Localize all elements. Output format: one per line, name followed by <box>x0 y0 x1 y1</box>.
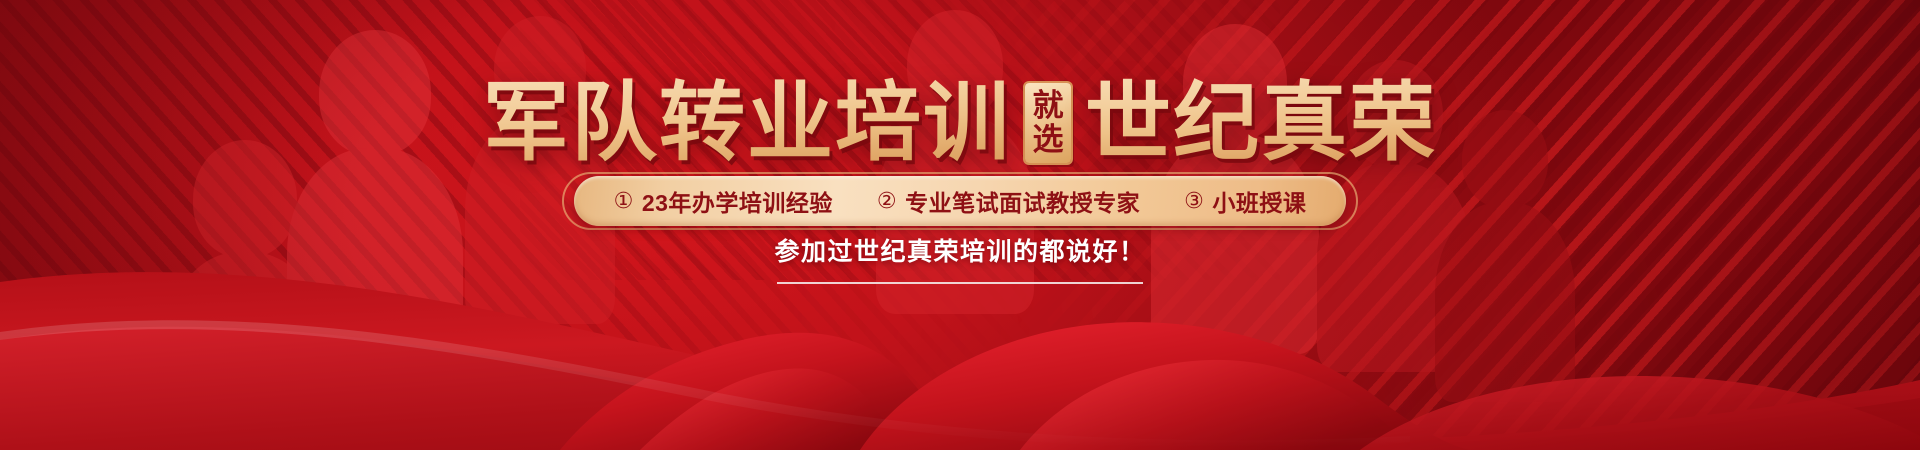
headline-right-text: 世纪真荣 <box>1085 74 1437 172</box>
feature-item-2: ② 专业笔试面试教授专家 <box>877 184 1140 218</box>
feature-label-3: 小班授课 <box>1212 184 1306 218</box>
feature-number-1: ① <box>614 188 634 214</box>
feature-label-1: 23年办学培训经验 <box>642 184 833 218</box>
headline: 军队转业培训 就 选 世纪真荣 <box>0 74 1920 172</box>
feature-number-3: ③ <box>1184 188 1204 214</box>
feature-item-1: ① 23年办学培训经验 <box>614 184 833 218</box>
feature-label-2: 专业笔试面试教授专家 <box>905 184 1140 218</box>
feature-pill-wrap: ① 23年办学培训经验 ② 专业笔试面试教授专家 ③ 小班授课 <box>0 176 1920 226</box>
tagline-wrap: 参加过世纪真荣培训的都说好！ <box>0 232 1920 284</box>
feature-pill-outer: ① 23年办学培训经验 ② 专业笔试面试教授专家 ③ 小班授课 <box>574 176 1347 226</box>
tagline-text: 参加过世纪真荣培训的都说好！ <box>774 232 1145 268</box>
badge-line-2: 选 <box>1033 123 1064 157</box>
feature-number-2: ② <box>877 188 897 214</box>
headline-left-text: 军队转业培训 <box>483 74 1011 172</box>
tagline-underline <box>777 282 1143 284</box>
feature-item-3: ③ 小班授课 <box>1184 184 1306 218</box>
jiuxuan-badge: 就 选 <box>1025 83 1071 163</box>
badge-line-1: 就 <box>1033 89 1064 123</box>
promo-banner: 军队转业培训 就 选 世纪真荣 ① 23年办学培训经验 ② 专业笔试面试教授专家… <box>0 0 1920 450</box>
feature-pill: ① 23年办学培训经验 ② 专业笔试面试教授专家 ③ 小班授课 <box>574 176 1347 226</box>
